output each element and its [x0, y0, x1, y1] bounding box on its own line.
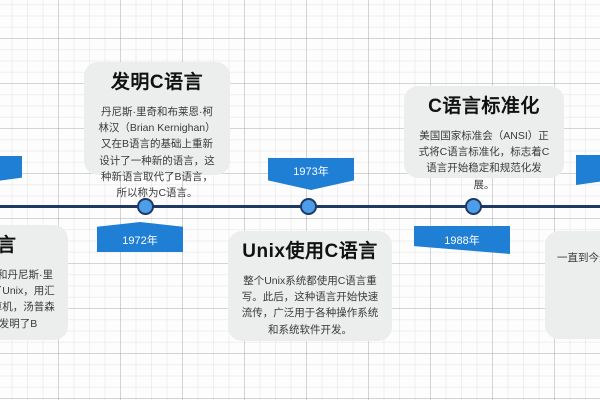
timeline-node-1988[interactable] — [465, 198, 482, 215]
card-c-standardization[interactable]: C语言标准化 美国国家标准会（ANSI）正式将C语言标准化，标志着C语言开始稳定… — [404, 86, 564, 178]
year-banner-1972-label: 1972年 — [122, 232, 157, 248]
year-banner-right-clipped[interactable] — [576, 155, 600, 185]
card-today-body: 一直到今天在计算机 — [557, 250, 600, 266]
card-unix-uses-c-body: 整个Unix系统都使用C语言重写。此后，这种语言开始快速流传，广泛用于各种操作系… — [240, 273, 380, 338]
card-invent-c-body: 丹尼斯·里奇和布莱恩·柯林汉（Brian Kernighan）又在B语言的基础上… — [96, 104, 218, 202]
year-banner-left-clipped[interactable] — [0, 156, 22, 186]
card-c-standardization-body: 美国国家标准会（ANSI）正式将C语言标准化，标志着C语言开始稳定和规范化发展。 — [416, 128, 552, 193]
timeline-node-1973[interactable] — [300, 198, 317, 215]
card-unix-uses-c-title: Unix使用C语言 — [240, 241, 380, 264]
card-invent-c-title: 发明C语言 — [96, 72, 218, 95]
year-banner-1973[interactable]: 1973年 — [268, 158, 354, 190]
timeline-diagram: 1972年 1973年 1988年 语言 的肯·汤普森和丹尼斯·里奇一起开发了U… — [0, 0, 600, 400]
year-banner-1988-label: 1988年 — [444, 232, 479, 248]
card-b-language-body: 的肯·汤普森和丹尼斯·里奇一起开发了Unix，用汇编语言写计算机，汤普森在基础上… — [0, 267, 56, 332]
card-b-language[interactable]: 语言 的肯·汤普森和丹尼斯·里奇一起开发了Unix，用汇编语言写计算机，汤普森在… — [0, 225, 68, 340]
card-c-standardization-title: C语言标准化 — [416, 96, 552, 119]
year-banner-1988[interactable]: 1988年 — [414, 226, 510, 254]
year-banner-1972[interactable]: 1972年 — [97, 222, 183, 252]
card-invent-c[interactable]: 发明C语言 丹尼斯·里奇和布莱恩·柯林汉（Brian Kernighan）又在B… — [84, 62, 230, 175]
card-b-language-title: 语言 — [0, 235, 56, 258]
card-today[interactable]: 一直到今天在计算机 — [545, 231, 600, 339]
card-unix-uses-c[interactable]: Unix使用C语言 整个Unix系统都使用C语言重写。此后，这种语言开始快速流传… — [228, 231, 392, 341]
year-banner-1973-label: 1973年 — [293, 163, 328, 179]
